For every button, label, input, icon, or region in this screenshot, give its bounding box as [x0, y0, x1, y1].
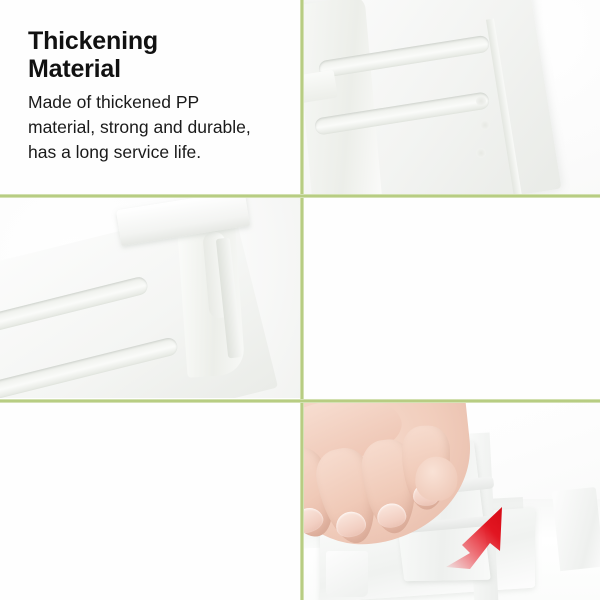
plate-nub	[476, 148, 486, 158]
body-thickening-material: Made of thickened PP material, strong an…	[28, 90, 280, 165]
thumb-tip-shape	[414, 455, 459, 502]
panel-product-photo-bottom-right	[304, 403, 600, 600]
panel-product-photo-top-right	[304, 0, 600, 195]
divider-horizontal-bottom	[0, 399, 600, 403]
heading-thickening-material: Thickening Material	[28, 27, 280, 83]
panel-product-photo-middle-left	[0, 198, 301, 398]
panel-telescopic-design: Telescopic Design Can be freely stretche…	[0, 403, 301, 600]
divider-clip-shape	[326, 551, 368, 597]
divider-wing-shape	[552, 487, 600, 571]
product-photo-divider-edges	[0, 198, 301, 398]
product-photo-divider-slots	[304, 0, 600, 195]
panel-good-workmanship: Good Workmanship The edges are smooth wi…	[304, 198, 600, 398]
divider-horizontal-top	[0, 194, 600, 198]
product-feature-infographic: Thickening Material Made of thickened PP…	[0, 0, 600, 600]
plate-nub	[476, 96, 486, 106]
panel-thickening-material: Thickening Material Made of thickened PP…	[0, 0, 301, 195]
divider-vertical	[300, 0, 304, 600]
product-photo-hand-stretching-divider	[304, 403, 600, 600]
direction-arrow-icon	[440, 501, 518, 573]
plate-nub	[480, 120, 490, 130]
text-block-thickening-material: Thickening Material Made of thickened PP…	[28, 27, 280, 165]
